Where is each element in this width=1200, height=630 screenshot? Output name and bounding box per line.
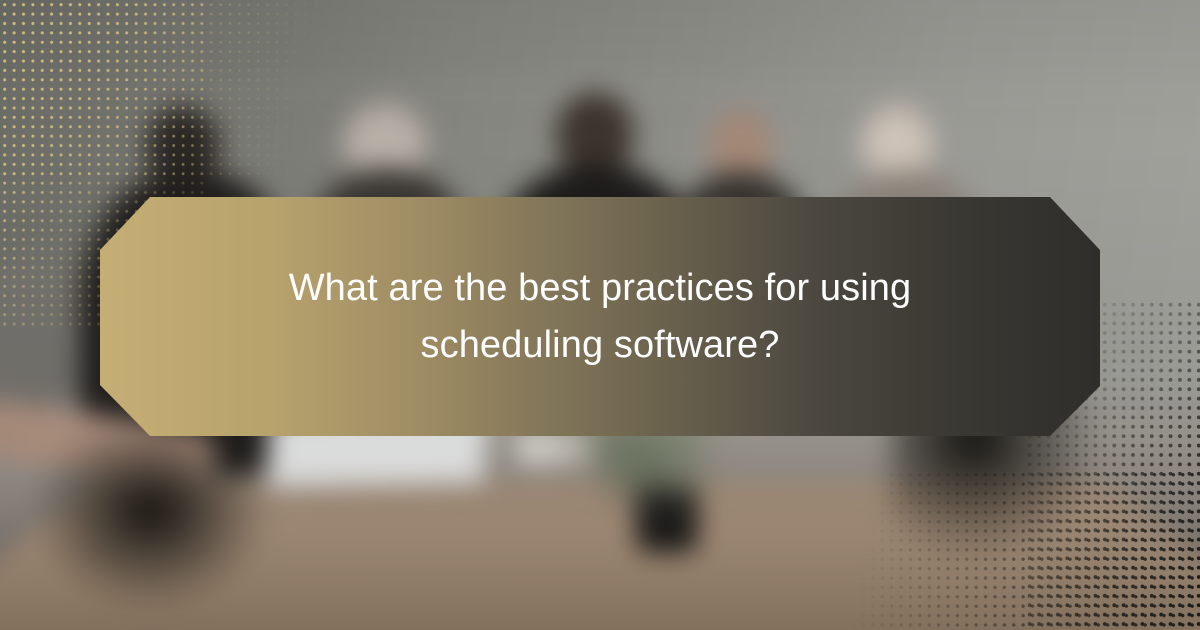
social-card-canvas: What are the best practices for using sc… [0,0,1200,630]
title-banner-content: What are the best practices for using sc… [100,197,1100,436]
wall-seam [0,88,1200,91]
plant-pot [636,490,698,552]
page-title: What are the best practices for using sc… [250,260,950,372]
chair-shadow-left [30,430,270,610]
title-banner: What are the best practices for using sc… [100,197,1100,436]
